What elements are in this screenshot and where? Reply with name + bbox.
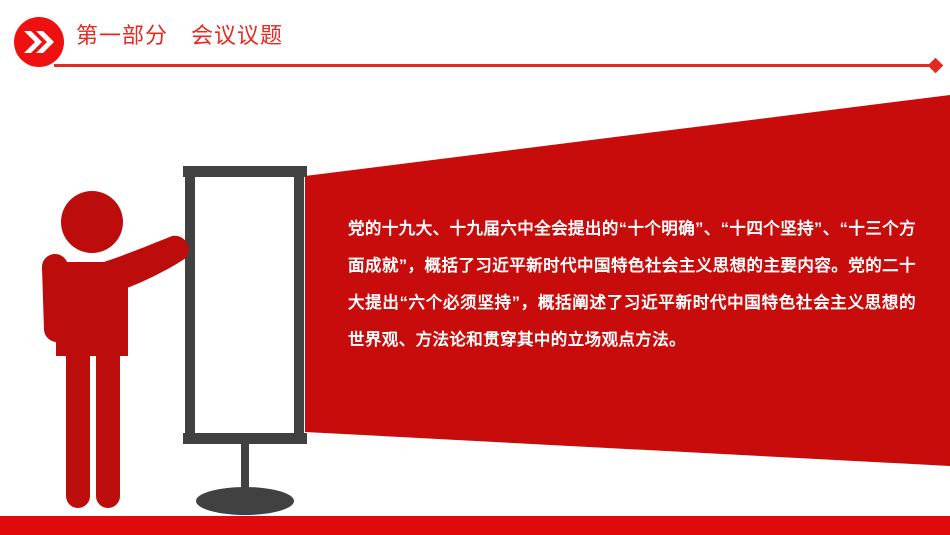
board-base-ellipse-icon [196,487,294,515]
callout-paragraph: 党的十九大、十九届六中全会提出的“十个明确”、“十四个坚持”、“十三个方面成就”… [348,211,916,359]
slide-canvas: 第一部分 会议议题 [0,0,950,535]
presentation-board-icon [183,166,307,444]
footer-bar [0,516,950,535]
presenter-person-icon [42,191,189,508]
